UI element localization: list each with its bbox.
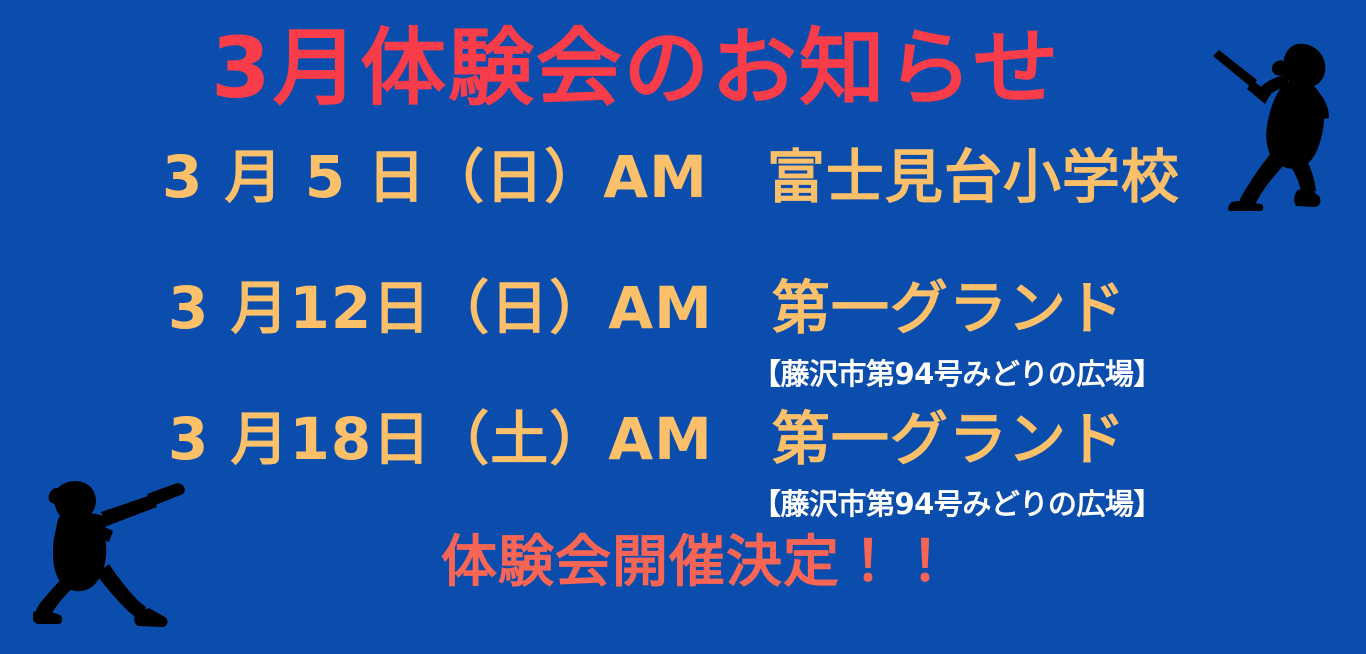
baseball-batter-silhouette-top-right-icon <box>1205 38 1345 213</box>
venue-note-2: 【藤沢市第94号みどりの広場】 <box>752 490 1162 519</box>
poster-canvas: 3月体験会のお知らせ 3 月 5 日（日）AM 富士見台小学校 3 月12日（日… <box>0 0 1366 654</box>
event-line-2: 3 月12日（日）AM 第一グランド <box>168 279 1126 337</box>
poster-callout: 体験会開催決定！！ <box>441 535 954 591</box>
venue-note-1: 【藤沢市第94号みどりの広場】 <box>752 360 1162 389</box>
event-line-3: 3 月18日（土）AM 第一グランド <box>168 410 1126 468</box>
event-line-1: 3 月 5 日（日）AM 富士見台小学校 <box>162 148 1180 206</box>
poster-headline: 3月体験会のお知らせ <box>211 26 1060 110</box>
baseball-batter-silhouette-bottom-left-icon <box>33 462 188 632</box>
